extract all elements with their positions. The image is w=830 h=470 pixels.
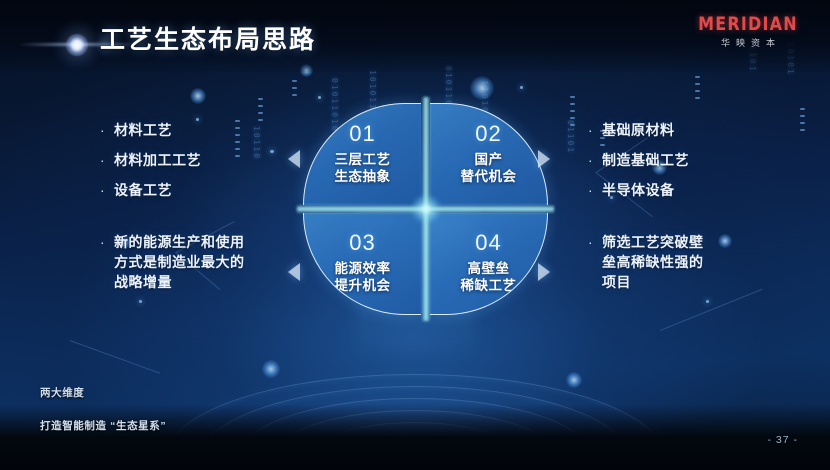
spark-dot-icon [318,96,321,99]
ripple-rings-decor [135,348,695,470]
bullet-glyph-icon: · [100,232,114,252]
quadrant-label-line2: 替代机会 [461,169,517,186]
list-item: · 设备工艺 [100,180,290,200]
arrow-right-icon-top [538,150,550,168]
bullet-glyph-icon: · [588,232,602,252]
list-item-label: 筛选工艺突破壁 垒高稀缺性强的 项目 [602,232,704,292]
quadrant-cell-02[interactable]: 02 国产 替代机会 [430,103,548,205]
glow-orb-icon [470,76,494,100]
list-item: · 制造基础工艺 [588,150,788,170]
list-item-label: 材料加工工艺 [114,150,201,170]
quadrant-number: 04 [475,232,501,254]
bullet-list-bottom-right: · 筛选工艺突破壁 垒高稀缺性强的 项目 [588,232,788,292]
bullet-glyph-icon: · [100,180,114,200]
list-item-label: 基础原材料 [602,120,675,140]
brand-logo-subtitle: 华映资本 [688,36,808,49]
quadrant-label-line2: 提升机会 [335,278,391,295]
list-item-label: 半导体设备 [602,180,675,200]
arrow-right-icon-bottom [538,263,550,281]
list-item: · 筛选工艺突破壁 垒高稀缺性强的 项目 [588,232,788,292]
list-item-label: 新的能源生产和使用 方式是制造业最大的 战略增量 [114,232,245,292]
spark-dot-icon [139,300,142,303]
glow-orb-icon [300,64,313,77]
quadrant-diagram: 01 三层工艺 生态抽象 02 国产 替代机会 03 能源效率 提升机会 04 … [303,103,548,315]
list-item-label: 制造基础工艺 [602,150,689,170]
quadrant-label-line2: 稀缺工艺 [461,278,517,295]
slide-footer: 两大维度 打造智能制造 “生态星系” [40,368,166,452]
quadrant-cell-03[interactable]: 03 能源效率 提升机会 [303,213,421,315]
page-number: - 37 - [767,434,798,446]
list-item: · 新的能源生产和使用 方式是制造业最大的 战略增量 [100,232,295,292]
glow-orb-icon [190,88,206,104]
quadrant-number: 03 [349,232,375,254]
list-item: · 材料工艺 [100,120,290,140]
binary-stream-icon: 01101 [566,120,575,154]
connector-line [660,289,762,331]
list-item-label: 设备工艺 [114,180,172,200]
quadrant-label-line2: 生态抽象 [335,169,391,186]
glow-orb-icon [566,372,582,388]
bullet-list-top-right: · 基础原材料 · 制造基础工艺 · 半导体设备 [588,120,788,200]
quadrant-label-line1: 三层工艺 [335,152,391,169]
bullet-glyph-icon: · [100,120,114,140]
list-item-label: 材料工艺 [114,120,172,140]
spark-dot-icon [706,300,709,303]
brand-logo-mark: MERIDIAN [688,13,808,35]
spark-dot-icon [520,86,523,89]
bullet-list-top-left: · 材料工艺 · 材料加工工艺 · 设备工艺 [100,120,290,200]
quadrant-label-line1: 能源效率 [335,261,391,278]
quadrant-cell-01[interactable]: 01 三层工艺 生态抽象 [303,103,421,205]
quadrant-number: 02 [475,123,501,145]
dot-column-icon [292,80,297,101]
dot-column-icon [695,76,700,104]
quadrant-number: 01 [349,123,375,145]
dot-column-icon [800,108,805,136]
quadrant-label-line1: 国产 [475,152,503,169]
list-item: · 半导体设备 [588,180,788,200]
bullet-glyph-icon: · [100,150,114,170]
dot-column-icon [570,96,575,131]
bullet-list-bottom-left: · 新的能源生产和使用 方式是制造业最大的 战略增量 [100,232,295,292]
bullet-glyph-icon: · [588,180,602,200]
slide-canvas: 01011010 1010110 0101101 110100 10101101… [0,0,830,470]
list-item: · 基础原材料 [588,120,788,140]
bullet-glyph-icon: · [588,150,602,170]
quadrant-cell-04[interactable]: 04 高壁垒 稀缺工艺 [430,213,548,315]
page-title: 工艺生态布局思路 [100,20,316,56]
center-cross-vertical [421,97,430,321]
brand-logo: MERIDIAN 华映资本 [688,14,808,49]
footer-line-2: 打造智能制造 “生态星系” [40,418,166,435]
footer-line-1: 两大维度 [40,385,166,402]
glow-orb-icon [262,360,280,378]
quadrant-label-line1: 高壁垒 [468,261,510,278]
list-item: · 材料加工工艺 [100,150,290,170]
bullet-glyph-icon: · [588,120,602,140]
